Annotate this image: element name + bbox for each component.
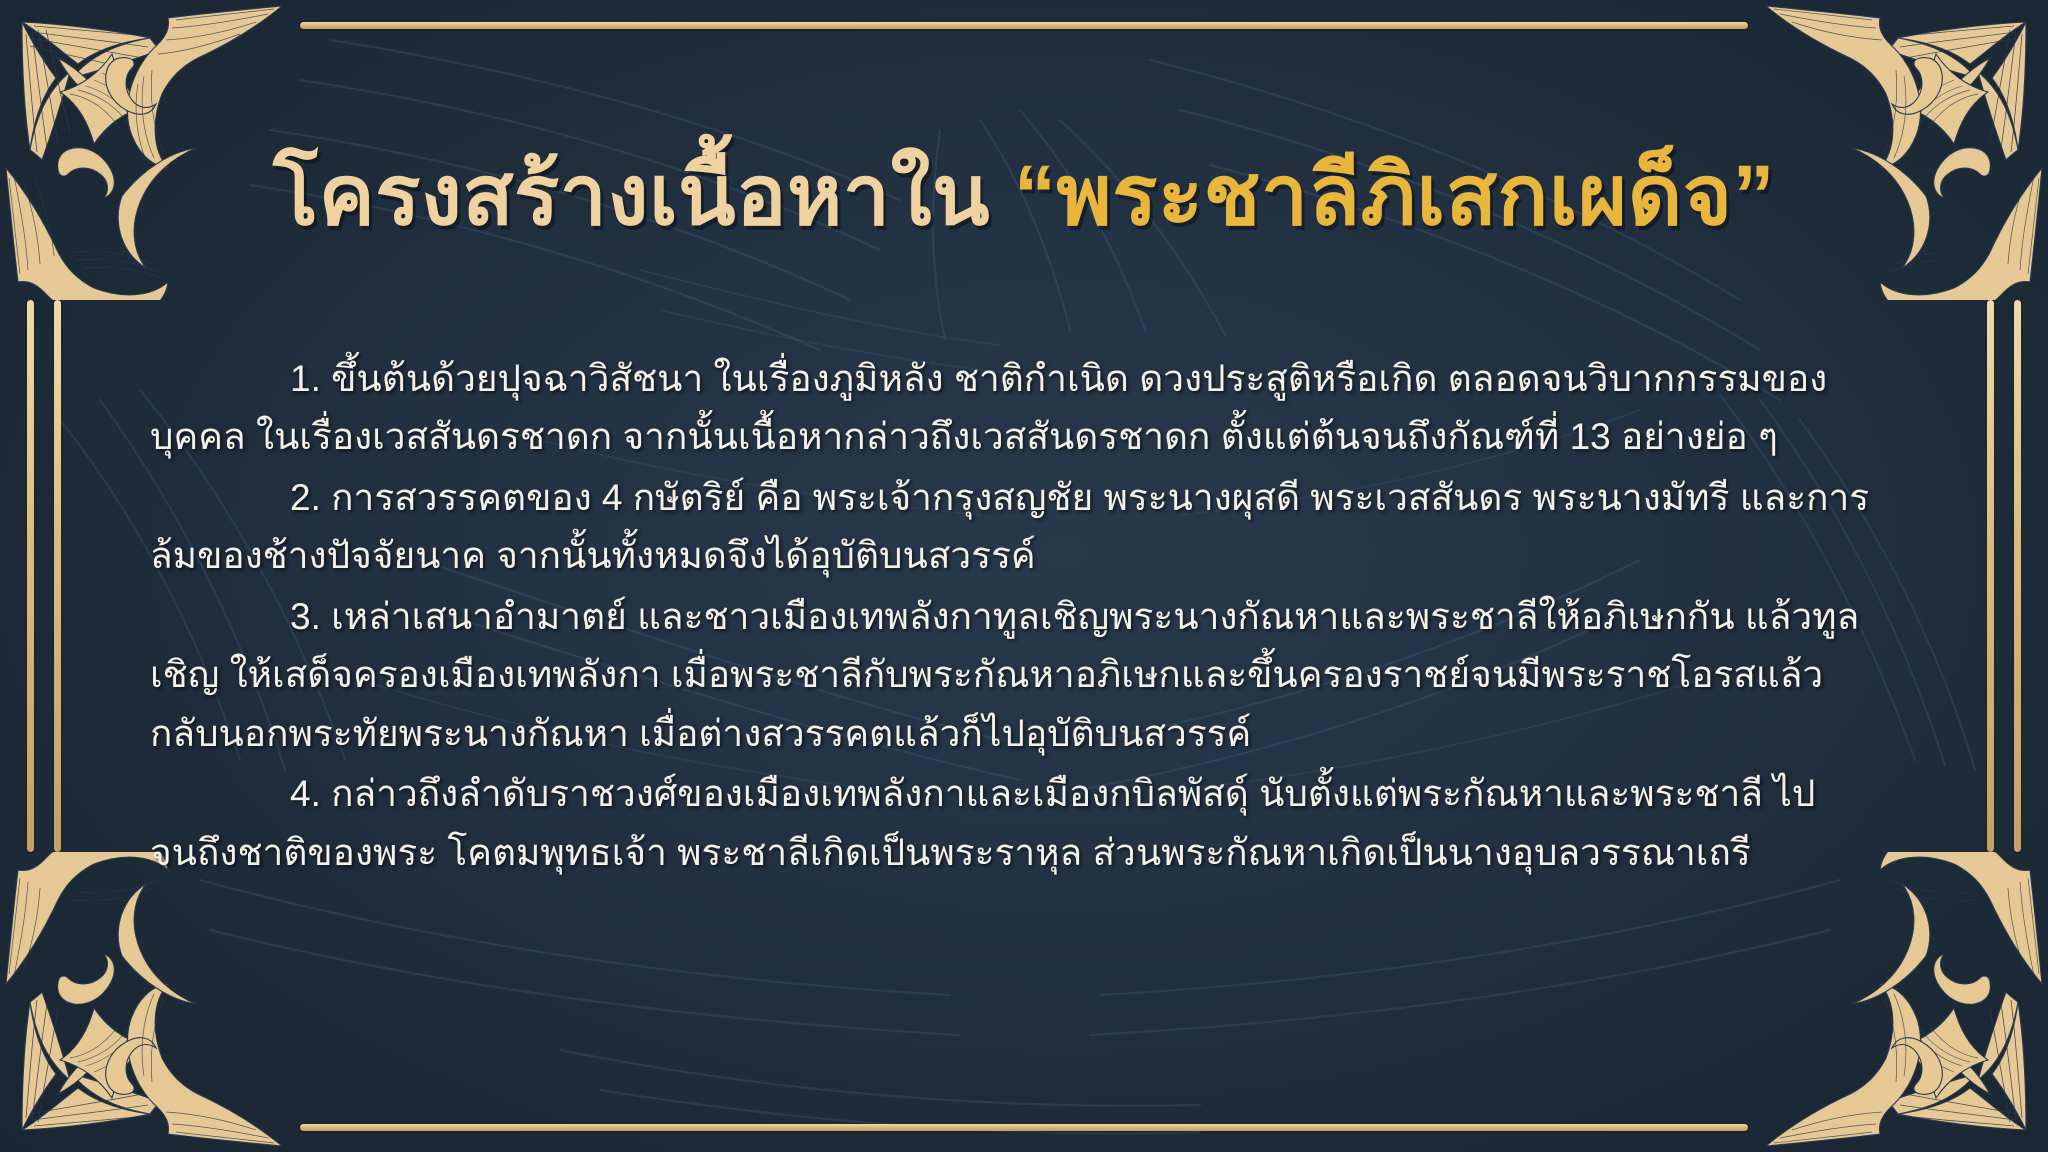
page-title-main: โครงสร้างเนื้อหาใน — [273, 148, 1014, 242]
frame-rule-right-inner — [1987, 300, 1994, 852]
frame-rule-top — [300, 22, 1748, 29]
corner-ornament-bottom-left — [0, 852, 300, 1152]
slide-canvas: โครงสร้างเนื้อหาใน “พระชาลีภิเสกเผด็จ” 1… — [0, 0, 2048, 1152]
content-paragraph-4: 4. กล่าวถึงลำดับราชวงศ์ของเมืองเทพลังกาแ… — [150, 765, 1898, 882]
frame-rule-bottom — [300, 1124, 1748, 1131]
frame-rule-right-outer — [2014, 300, 2021, 852]
content-paragraph-3: 3. เหล่าเสนาอำมาตย์ และชาวเมืองเทพลังกาท… — [150, 588, 1898, 763]
content-body: 1. ขึ้นต้นด้วยปุจฉาวิสัชนา ในเรื่องภูมิห… — [150, 350, 1898, 884]
content-paragraph-1: 1. ขึ้นต้นด้วยปุจฉาวิสัชนา ในเรื่องภูมิห… — [150, 350, 1898, 467]
corner-ornament-bottom-right — [1748, 852, 2048, 1152]
slide-title: โครงสร้างเนื้อหาใน “พระชาลีภิเสกเผด็จ” — [0, 148, 2048, 242]
page-title-quoted: “พระชาลีภิเสกเผด็จ” — [1014, 148, 1775, 242]
frame-rule-left-inner — [54, 300, 61, 852]
content-paragraph-2: 2. การสวรรคตของ 4 กษัตริย์ คือ พระเจ้ากร… — [150, 469, 1898, 586]
frame-rule-left-outer — [27, 300, 34, 852]
